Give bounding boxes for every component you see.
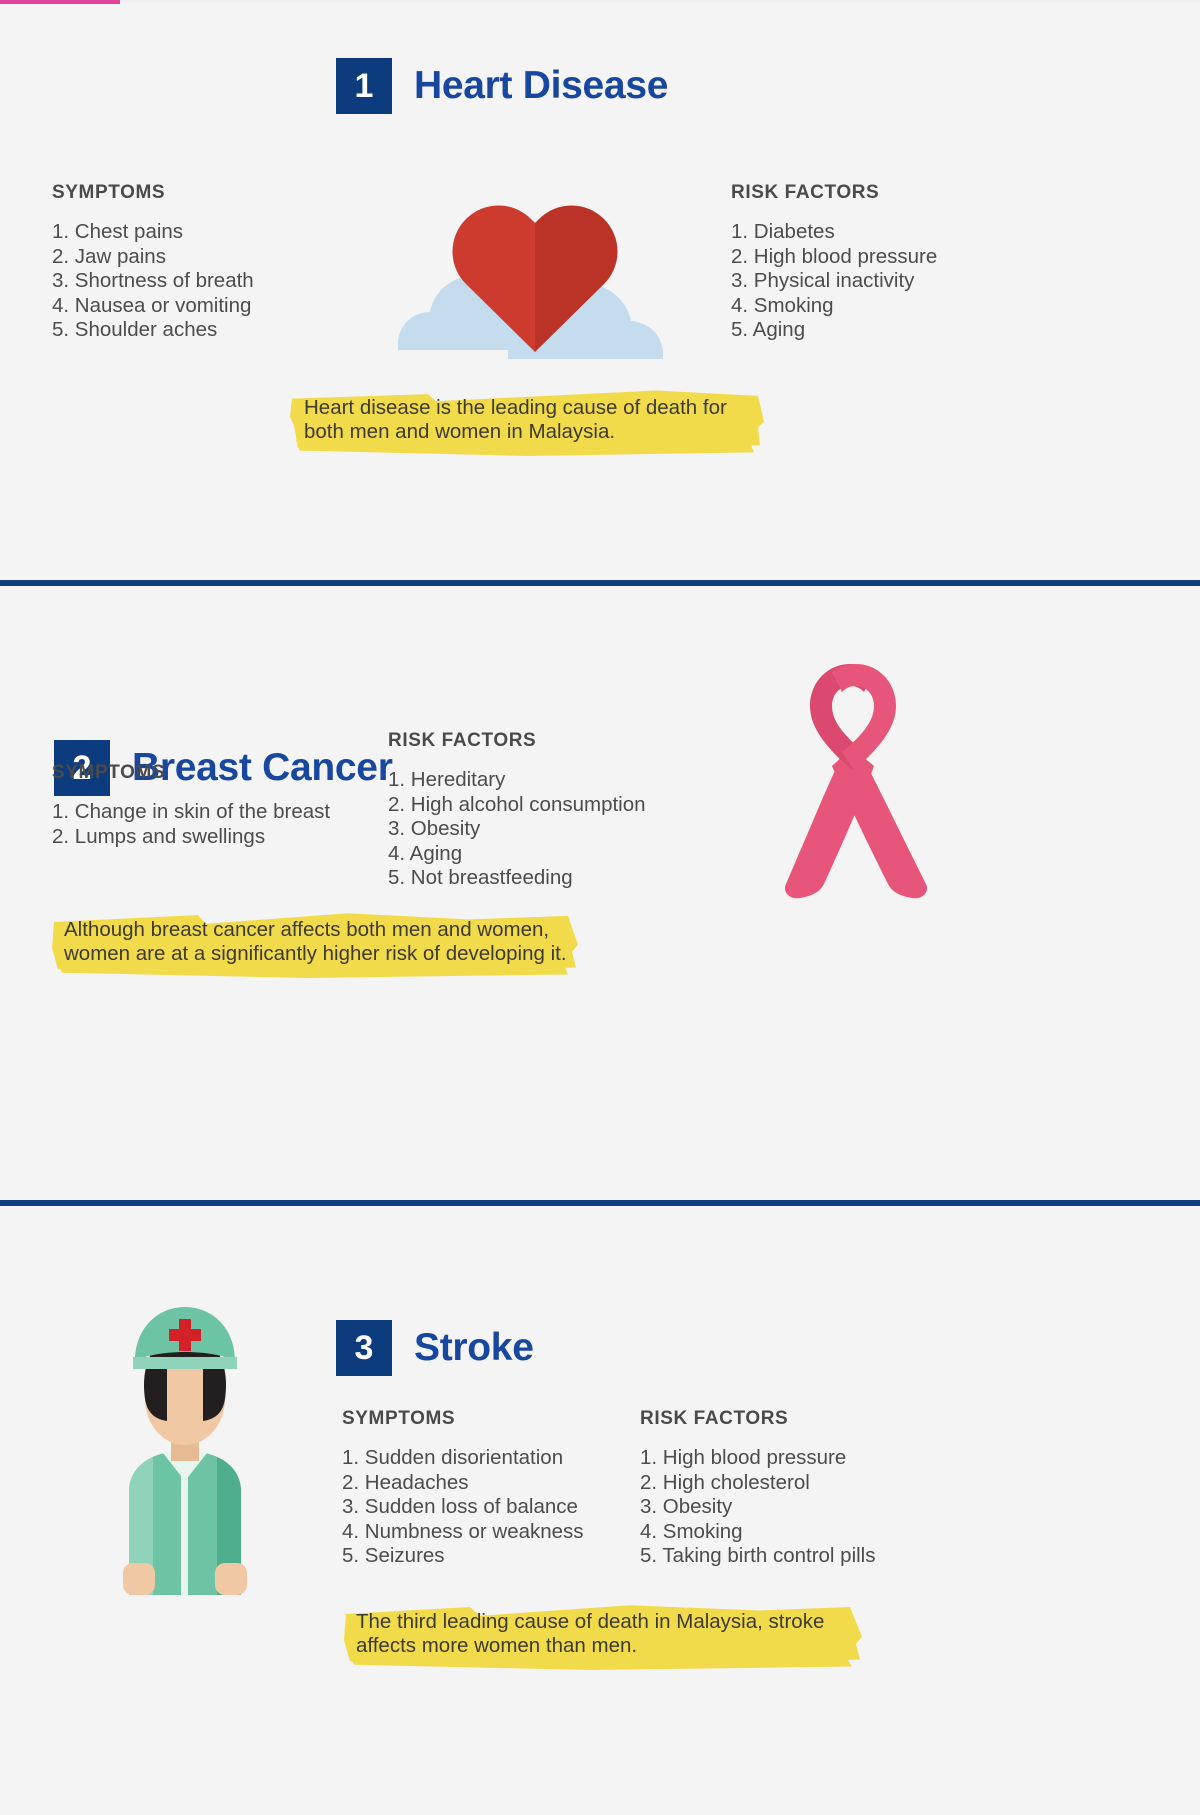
- list-item: 5. Shoulder aches: [52, 318, 254, 343]
- list-item: 1. Sudden disorientation: [342, 1446, 584, 1471]
- risk-factors-list: 1. Hereditary 2. High alcohol consumptio…: [388, 768, 646, 891]
- list-item: 2. High cholesterol: [640, 1471, 876, 1496]
- section-title: Heart Disease: [414, 64, 668, 108]
- section-header-heart-disease: 1 Heart Disease: [336, 58, 668, 114]
- list-item: 4. Smoking: [640, 1520, 876, 1545]
- risk-factors-label: RISK FACTORS: [388, 730, 646, 752]
- caption-text: Heart disease is the leading cause of de…: [304, 396, 754, 444]
- heart-risk-factors-column: RISK FACTORS 1. Diabetes 2. High blood p…: [731, 182, 937, 343]
- symptoms-label: SYMPTOMS: [52, 762, 330, 784]
- list-item: 2. Lumps and swellings: [52, 825, 330, 850]
- pink-ribbon-icon: [760, 648, 945, 908]
- list-item: 2. High blood pressure: [731, 245, 937, 270]
- section-divider-1: [0, 580, 1200, 586]
- caption-text: The third leading cause of death in Mala…: [356, 1610, 856, 1658]
- list-item: 1. Diabetes: [731, 220, 937, 245]
- heart-with-clouds-icon: [390, 160, 680, 370]
- list-item: 2. Headaches: [342, 1471, 584, 1496]
- list-item: 3. Shortness of breath: [52, 269, 254, 294]
- breast-risk-factors-column: RISK FACTORS 1. Hereditary 2. High alcoh…: [388, 730, 646, 891]
- list-item: 3. Physical inactivity: [731, 269, 937, 294]
- stroke-symptoms-column: SYMPTOMS 1. Sudden disorientation 2. Hea…: [342, 1408, 584, 1569]
- symptoms-label: SYMPTOMS: [52, 182, 254, 204]
- top-accent-rule: [0, 0, 120, 4]
- risk-factors-label: RISK FACTORS: [731, 182, 937, 204]
- symptoms-list: 1. Sudden disorientation 2. Headaches 3.…: [342, 1446, 584, 1569]
- list-item: 5. Taking birth control pills: [640, 1544, 876, 1569]
- stroke-caption-highlight: The third leading cause of death in Mala…: [340, 1600, 870, 1670]
- section-number-badge: 3: [336, 1320, 392, 1376]
- list-item: 5. Seizures: [342, 1544, 584, 1569]
- list-item: 4. Smoking: [731, 294, 937, 319]
- list-item: 2. High alcohol consumption: [388, 793, 646, 818]
- list-item: 3. Obesity: [640, 1495, 876, 1520]
- heart-symptoms-column: SYMPTOMS 1. Chest pains 2. Jaw pains 3. …: [52, 182, 254, 343]
- nurse-figure-icon: [95, 1295, 275, 1595]
- breast-symptoms-column: SYMPTOMS 1. Change in skin of the breast…: [52, 762, 330, 849]
- list-item: 4. Nausea or vomiting: [52, 294, 254, 319]
- breast-caption-highlight: Although breast cancer affects both men …: [48, 908, 588, 978]
- list-item: 1. High blood pressure: [640, 1446, 876, 1471]
- symptoms-label: SYMPTOMS: [342, 1408, 584, 1430]
- section-header-stroke: 3 Stroke: [336, 1320, 534, 1376]
- list-item: 5. Aging: [731, 318, 937, 343]
- list-item: 3. Obesity: [388, 817, 646, 842]
- list-item: 1. Change in skin of the breast: [52, 800, 330, 825]
- list-item: 2. Jaw pains: [52, 245, 254, 270]
- top-accent-rule-filler: [120, 0, 1200, 3]
- list-item: 3. Sudden loss of balance: [342, 1495, 584, 1520]
- symptoms-list: 1. Chest pains 2. Jaw pains 3. Shortness…: [52, 220, 254, 343]
- list-item: 1. Chest pains: [52, 220, 254, 245]
- list-item: 4. Numbness or weakness: [342, 1520, 584, 1545]
- caption-text: Although breast cancer affects both men …: [64, 918, 574, 966]
- heart-caption-highlight: Heart disease is the leading cause of de…: [288, 386, 768, 456]
- section-number-badge: 1: [336, 58, 392, 114]
- list-item: 5. Not breastfeeding: [388, 866, 646, 891]
- risk-factors-label: RISK FACTORS: [640, 1408, 876, 1430]
- infographic-page: 1 Heart Disease SYMPTOMS 1. Chest pains …: [0, 0, 1200, 1815]
- list-item: 4. Aging: [388, 842, 646, 867]
- stroke-risk-factors-column: RISK FACTORS 1. High blood pressure 2. H…: [640, 1408, 876, 1569]
- list-item: 1. Hereditary: [388, 768, 646, 793]
- risk-factors-list: 1. High blood pressure 2. High cholester…: [640, 1446, 876, 1569]
- section-title: Stroke: [414, 1326, 534, 1370]
- risk-factors-list: 1. Diabetes 2. High blood pressure 3. Ph…: [731, 220, 937, 343]
- symptoms-list: 1. Change in skin of the breast 2. Lumps…: [52, 800, 330, 849]
- section-divider-2: [0, 1200, 1200, 1206]
